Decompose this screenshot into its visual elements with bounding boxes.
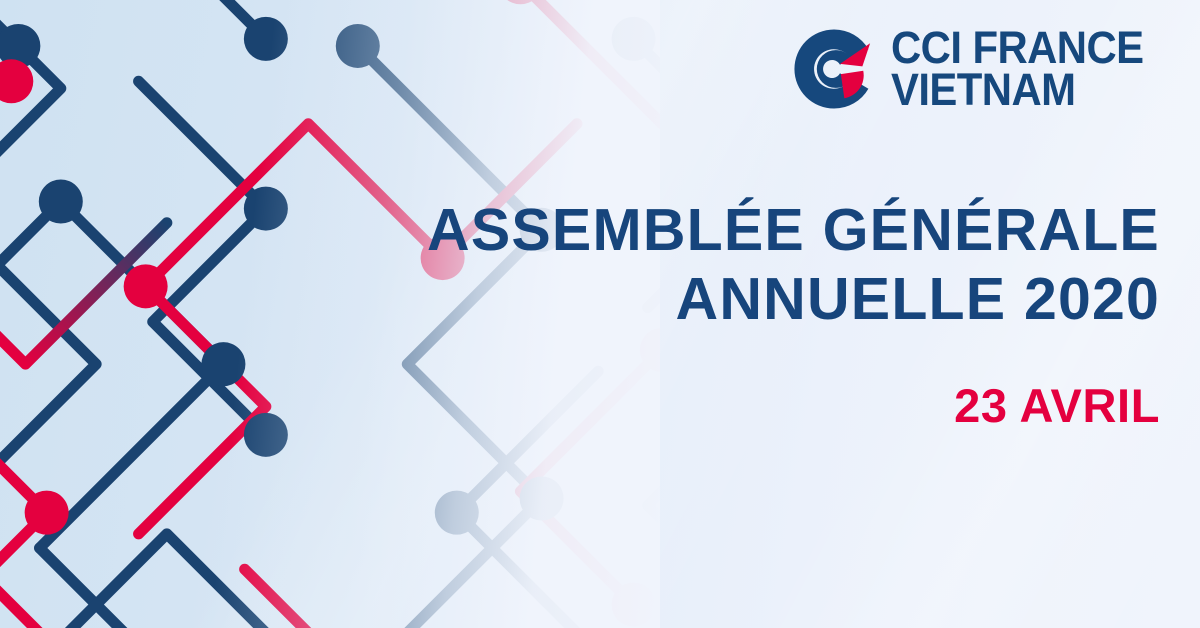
event-title-line1: ASSEMBLÉE GÉNÉRALE	[400, 196, 1160, 265]
event-banner: CCI FRANCE VIETNAM ASSEMBLÉE GÉNÉRALE AN…	[0, 0, 1200, 628]
cci-france-vietnam-logomark-icon	[791, 26, 877, 112]
event-copy-block: ASSEMBLÉE GÉNÉRALE ANNUELLE 2020 23 AVRI…	[400, 196, 1160, 433]
event-date: 23 AVRIL	[400, 378, 1160, 433]
brand-logo: CCI FRANCE VIETNAM	[791, 26, 1163, 112]
event-title-line2: ANNUELLE 2020	[400, 265, 1160, 334]
brand-wordmark: CCI FRANCE VIETNAM	[891, 27, 1163, 112]
brand-name-line2: VIETNAM	[891, 69, 1143, 111]
brand-name-line1: CCI FRANCE	[891, 27, 1143, 69]
